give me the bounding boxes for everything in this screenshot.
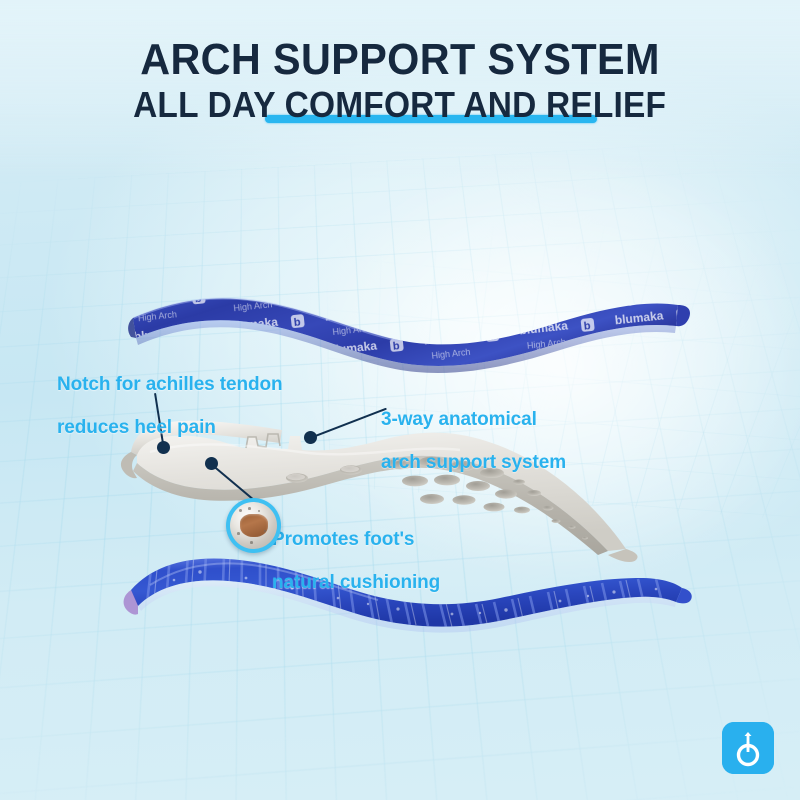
callout-arch-line-2: arch support system: [381, 452, 566, 474]
badge-speck: [239, 509, 242, 512]
callout-cushion-line-1: Promotes foot's: [272, 529, 440, 551]
title-line-2: ALL DAY COMFORT AND RELIEF: [133, 86, 666, 124]
cushion-detail-badge-inner: [230, 502, 277, 549]
heel-pad-cutaway: [240, 514, 268, 537]
leader-dot-arch: [304, 431, 317, 444]
title-line-2-holder: ALL DAY COMFORT AND RELIEF: [113, 86, 686, 124]
callout-notch: Notch for achilles tendon reduces heel p…: [57, 352, 283, 460]
callout-cushion: Promotes foot's natural cushioning: [272, 507, 440, 615]
brand-logo[interactable]: [722, 722, 774, 774]
badge-speck: [248, 507, 251, 510]
callout-cushion-line-2: natural cushioning: [272, 572, 440, 594]
callout-notch-line-1: Notch for achilles tendon: [57, 374, 283, 396]
cushion-detail-badge: [226, 498, 281, 553]
infographic-canvas: ARCH SUPPORT SYSTEM ALL DAY COMFORT AND …: [0, 0, 800, 800]
callout-notch-line-2: reduces heel pain: [57, 417, 283, 439]
badge-speck: [237, 532, 240, 535]
callout-arch: 3-way anatomical arch support system: [381, 387, 566, 495]
callout-arch-line-1: 3-way anatomical: [381, 409, 566, 431]
logo-stem: [747, 742, 750, 752]
badge-speck: [250, 541, 253, 544]
badge-speck: [258, 510, 260, 512]
